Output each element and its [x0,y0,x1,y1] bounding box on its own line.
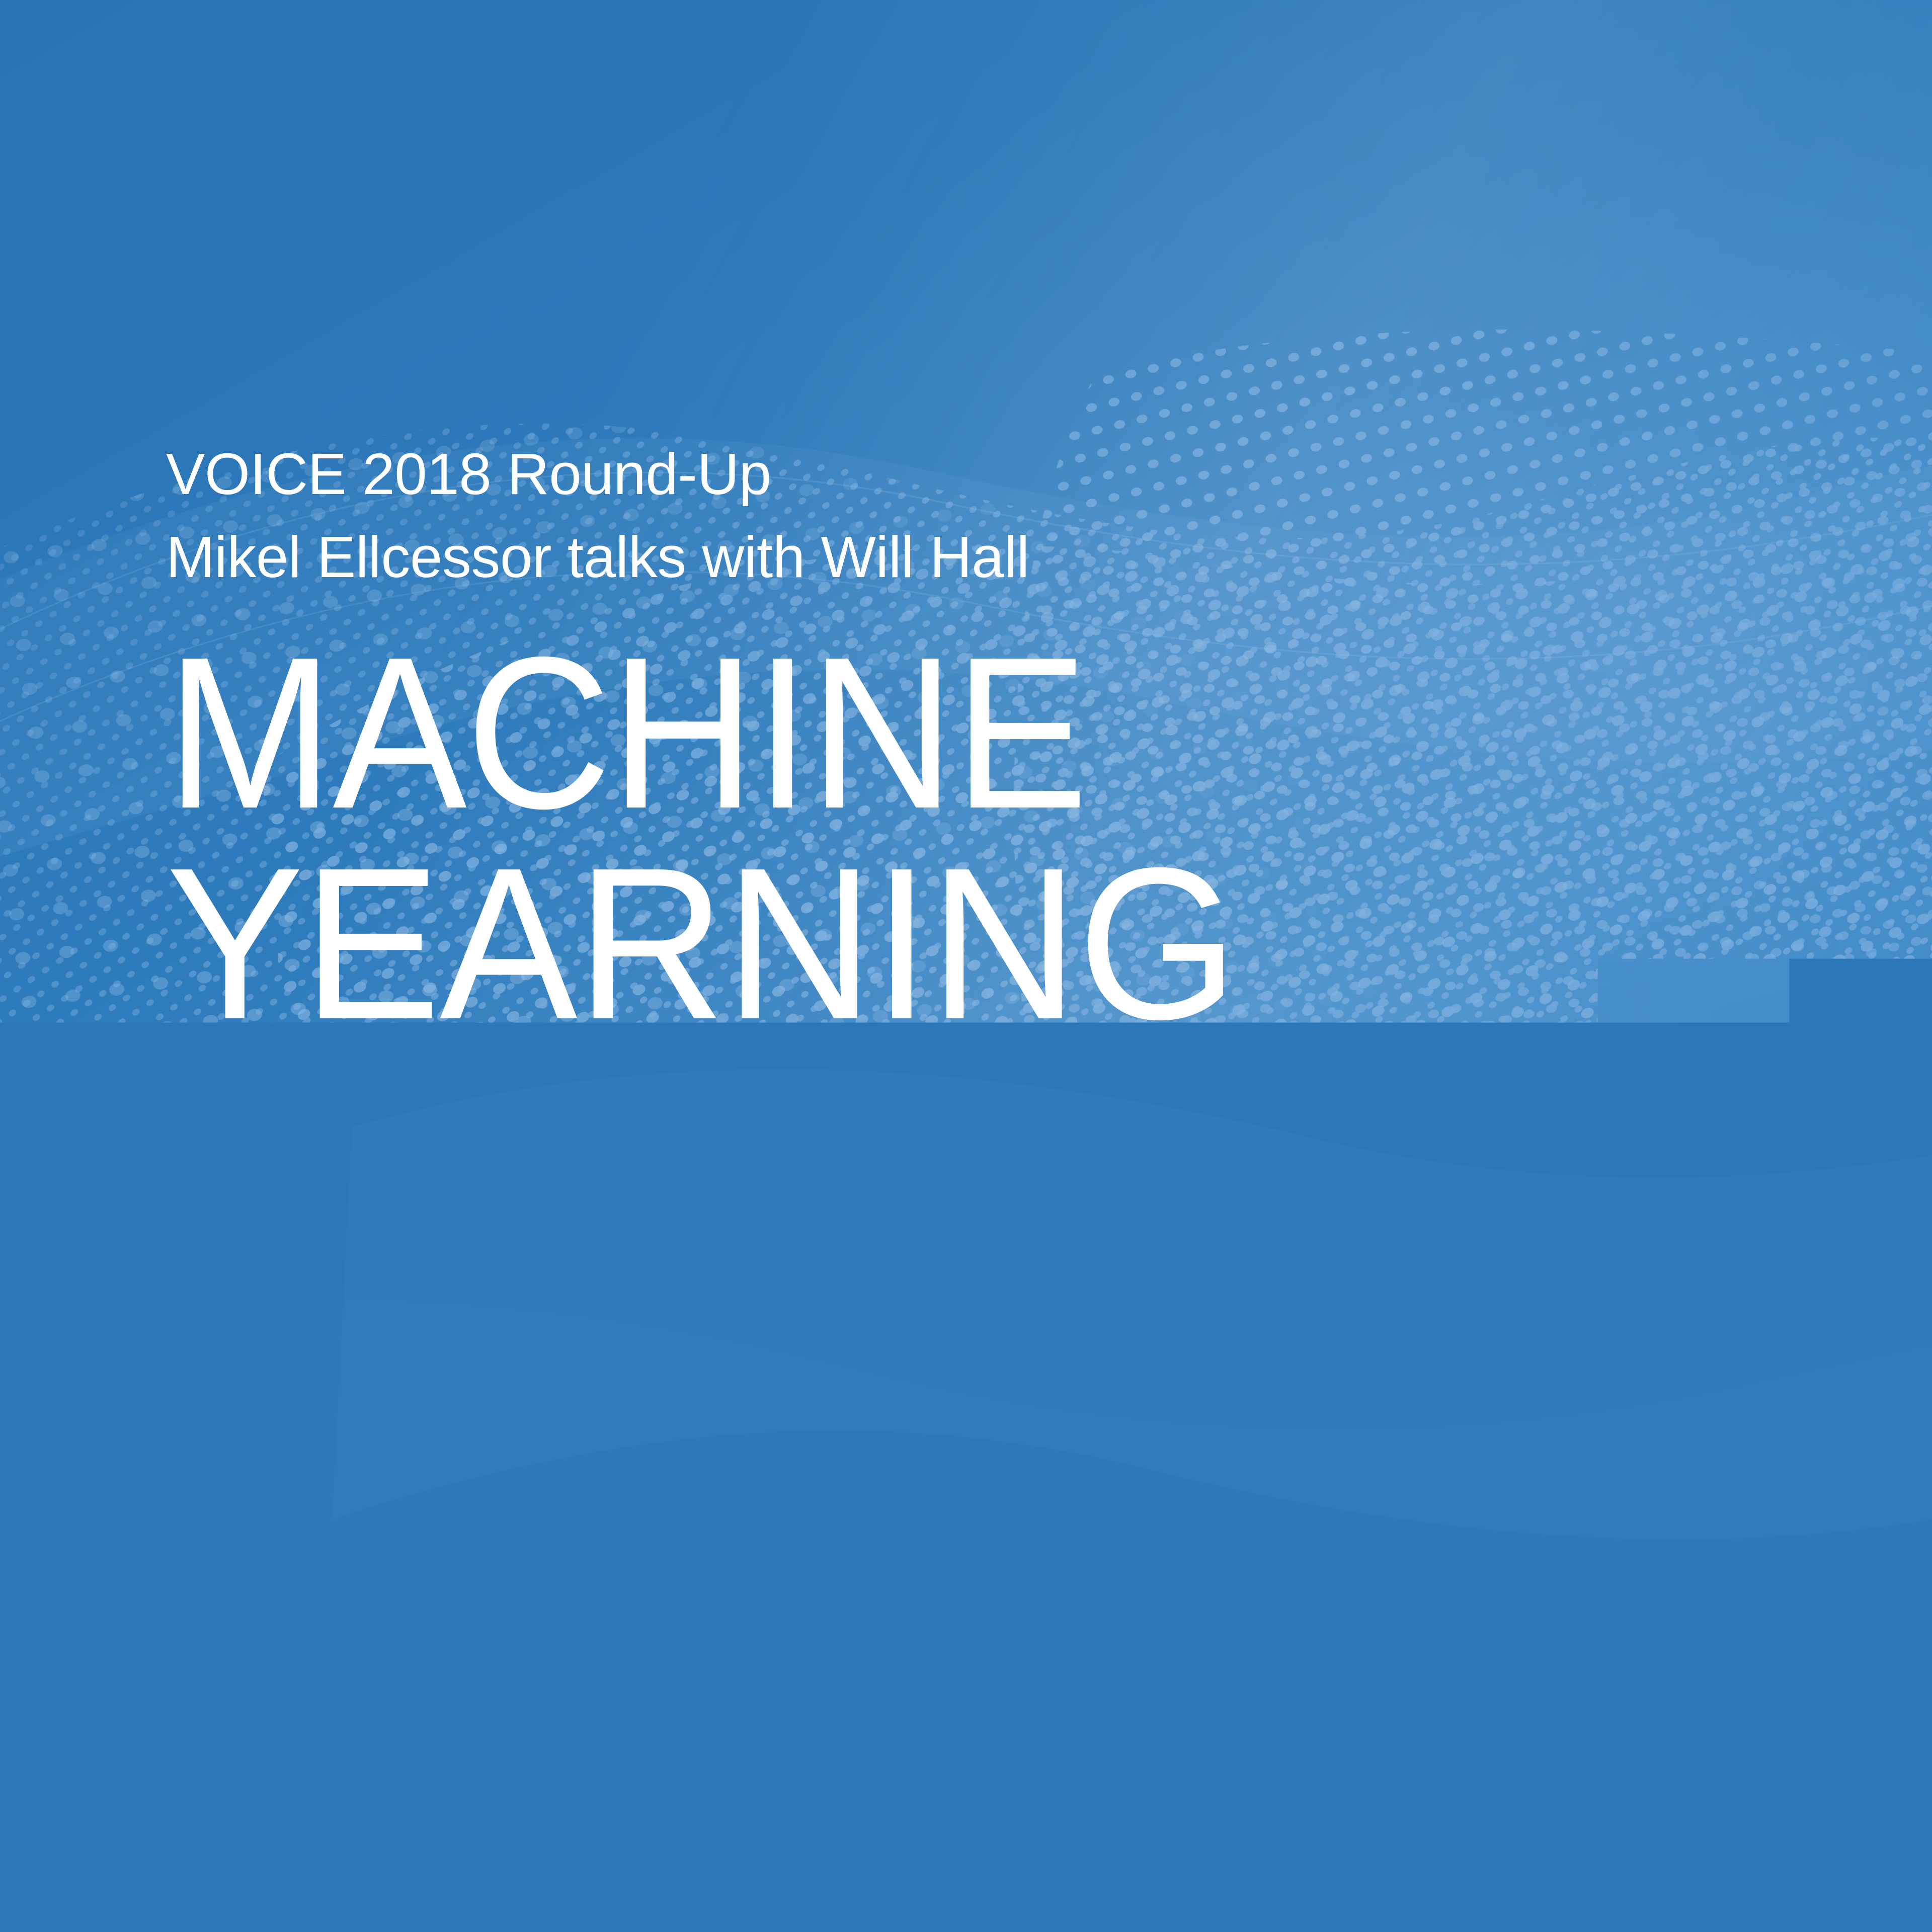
show-title-line-1: MACHINE [166,631,1663,835]
episode-title-line-2: Mikel Ellcessor talks with Will Hall [166,516,1776,599]
crossed-keys-icon [347,1091,498,1242]
show-title-line-2: YEARNING [166,842,1704,1045]
cover-content: VOICE 2018 Round-Up Mikel Ellcessor talk… [166,433,1776,1242]
episode-title-line-1: VOICE 2018 Round-Up [166,433,1776,516]
assist-brand-name: ASSIST [555,1104,1008,1231]
podcast-cover-art: VOICE 2018 Round-Up Mikel Ellcessor talk… [0,0,1932,1932]
by-label: by [212,1131,291,1205]
show-wordmark: MACHINE YEARNING [166,631,1776,1045]
byline: by [212,1094,1776,1242]
